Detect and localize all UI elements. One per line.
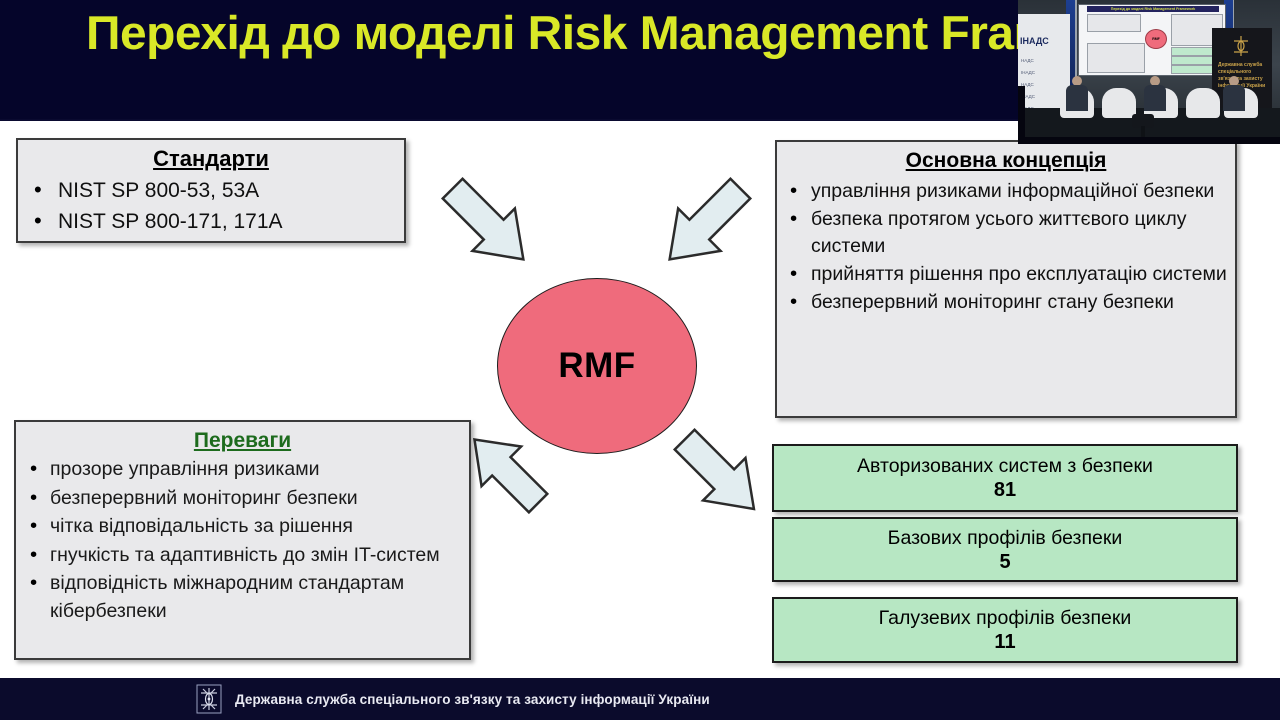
standards-box: Стандарти NIST SP 800-53, 53A NIST SP 80… <box>16 138 406 243</box>
stat-label: Базових профілів безпеки <box>888 526 1123 550</box>
arrow-standards-to-rmf <box>428 172 548 277</box>
list-item: прозоре управління ризиками <box>16 456 469 484</box>
title-band-underline <box>0 119 1018 121</box>
advantages-box: Переваги прозоре управління ризиками без… <box>14 420 471 660</box>
rmf-circle-node: RMF <box>497 278 697 454</box>
stat-box-authorized-systems: Авторизованих систем з безпеки 81 <box>772 444 1238 512</box>
panelist-body <box>1144 85 1166 111</box>
panelist-body <box>1066 85 1088 111</box>
list-item: NIST SP 800-171, 171A <box>18 207 404 237</box>
press-wall-logo-text: ІНАДС <box>1020 36 1049 46</box>
screen-slide-title: Перехід до моделі Risk Management Framew… <box>1087 6 1219 12</box>
video-letterbox-left <box>1018 86 1025 144</box>
stat-label: Авторизованих систем з безпеки <box>857 454 1153 478</box>
projection-screen: Перехід до моделі Risk Management Framew… <box>1078 4 1226 76</box>
dsszzi-emblem-icon <box>196 684 222 714</box>
main-concept-list: управління ризиками інформаційної безпек… <box>777 178 1235 316</box>
video-letterbox-bottom <box>1018 137 1280 144</box>
list-item: безперервний моніторинг безпеки <box>16 485 469 513</box>
stat-value: 81 <box>994 478 1016 502</box>
slide-footer: Державна служба спеціального зв'язку та … <box>0 678 1280 720</box>
panelist <box>1142 76 1168 110</box>
main-concept-box-title: Основна концепція <box>777 149 1235 173</box>
standards-box-title: Стандарти <box>18 146 404 172</box>
footer-organization-name: Державна служба спеціального зв'язку та … <box>235 692 710 707</box>
chair <box>1186 88 1220 118</box>
dsszzi-emblem-icon <box>1230 34 1252 58</box>
list-item: гнучкість та адаптивність до змін IT-сис… <box>16 542 469 570</box>
advantages-box-title: Переваги <box>16 429 469 453</box>
side-table <box>1132 114 1154 128</box>
list-item: чітка відповідальність за рішення <box>16 513 469 541</box>
presentation-video-thumbnail[interactable]: ІНАДС НАДС ІНАДС НАДС ІНАДС НАДС ІНАДС П… <box>1018 0 1280 144</box>
list-item: відповідність міжнародним стандартам кіб… <box>16 570 469 625</box>
screen-mini-standards-box <box>1087 14 1141 32</box>
list-item: безпека протягом усього життєвого циклу … <box>777 206 1235 260</box>
list-item: прийняття рішення про експлуатацію систе… <box>777 261 1235 288</box>
stat-box-sector-profiles: Галузевих профілів безпеки 11 <box>772 597 1238 663</box>
panelist <box>1221 76 1247 110</box>
rmf-label: RMF <box>558 346 635 386</box>
video-frame: ІНАДС НАДС ІНАДС НАДС ІНАДС НАДС ІНАДС П… <box>1018 0 1280 144</box>
panelist-body <box>1223 85 1245 111</box>
stat-box-base-profiles: Базових профілів безпеки 5 <box>772 517 1238 582</box>
stat-label: Галузевих профілів безпеки <box>879 606 1132 630</box>
panelist <box>1064 76 1090 110</box>
screen-mini-rmf-label: RMF <box>1146 30 1166 48</box>
list-item: безперервний моніторинг стану безпеки <box>777 289 1235 316</box>
screen-mini-rmf-circle: RMF <box>1145 29 1167 49</box>
stat-value: 11 <box>994 630 1015 654</box>
list-item: NIST SP 800-53, 53A <box>18 176 404 206</box>
main-concept-box: Основна концепція управління ризиками ін… <box>775 140 1237 418</box>
advantages-list: прозоре управління ризиками безперервний… <box>16 456 469 625</box>
standards-list: NIST SP 800-53, 53A NIST SP 800-171, 171… <box>18 176 404 237</box>
arrow-concept-to-rmf <box>645 172 765 277</box>
arrow-rmf-to-stats <box>660 425 780 525</box>
screen-mini-advantages-box <box>1087 43 1145 73</box>
chair <box>1102 88 1136 118</box>
list-item: управління ризиками інформаційної безпек… <box>777 178 1235 205</box>
stat-value: 5 <box>999 550 1010 574</box>
